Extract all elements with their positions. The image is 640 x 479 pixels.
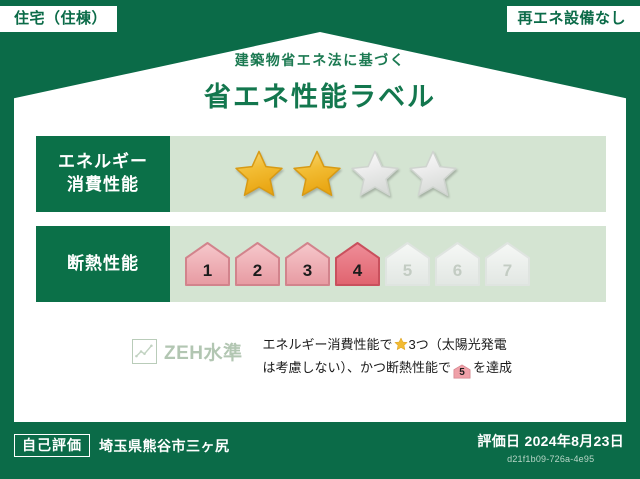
row-energy-label-line1: エネルギー <box>58 151 148 174</box>
zeh-desc-line1-after: 3つ（太陽光発電 <box>409 337 507 352</box>
zeh-note: ZEH水準 エネルギー消費性能で 3つ（太陽光発電 は考慮しない）、かつ断熱性能… <box>36 334 606 380</box>
insulation-grade-house-1: 1 <box>184 240 231 288</box>
insulation-grade-house-3: 3 <box>284 240 331 288</box>
zeh-desc-line2-before: は考慮しない）、かつ断熱性能で <box>263 360 452 375</box>
rating-rows: エネルギー 消費性能 断熱性能 1234567 <box>36 136 606 316</box>
evaluation-id: d21f1b09-726a-4e95 <box>477 454 624 464</box>
insulation-grade-house-5: 5 <box>384 240 431 288</box>
insulation-grade-number: 1 <box>203 261 212 288</box>
renewable-equipment-badge: 再エネ設備なし <box>507 6 640 32</box>
footer-right: 評価日 2024年8月23日 d21f1b09-726a-4e95 <box>477 431 624 464</box>
zeh-mark-label: ZEH水準 <box>164 338 243 365</box>
insulation-grade-number: 3 <box>303 261 312 288</box>
inline-star-icon <box>394 337 408 351</box>
inline-house-number: 5 <box>453 364 471 381</box>
insulation-grade-house-4: 4 <box>334 240 381 288</box>
insulation-grade-house-2: 2 <box>234 240 281 288</box>
insulation-grade-number: 6 <box>453 261 462 288</box>
property-address: 埼玉県熊谷市三ヶ尻 <box>99 436 230 456</box>
row-energy-label-line2: 消費性能 <box>67 174 139 197</box>
zeh-chart-icon <box>132 339 157 364</box>
star-filled-icon <box>290 148 344 200</box>
title-subtitle: 建築物省エネ法に基づく <box>0 50 640 70</box>
row-insulation-value: 1234567 <box>170 226 606 302</box>
row-energy-consumption-label: エネルギー 消費性能 <box>36 136 170 212</box>
star-filled-icon <box>232 148 286 200</box>
star-rating <box>170 148 460 200</box>
row-energy-consumption: エネルギー 消費性能 <box>36 136 606 212</box>
inline-house-icon: 5 <box>453 364 471 379</box>
star-empty-icon <box>348 148 402 200</box>
insulation-grade-number: 4 <box>353 261 362 288</box>
insulation-grade-number: 7 <box>503 261 512 288</box>
self-evaluation-badge: 自己評価 <box>14 434 90 457</box>
evaluation-date: 評価日 2024年8月23日 <box>477 431 624 451</box>
insulation-grade-number: 5 <box>403 261 412 288</box>
insulation-grade-house-6: 6 <box>434 240 481 288</box>
energy-performance-label: 住宅（住棟） 再エネ設備なし 建築物省エネ法に基づく 省エネ性能ラベル エネルギ… <box>0 0 640 479</box>
star-empty-icon <box>406 148 460 200</box>
insulation-grade-scale: 1234567 <box>170 240 531 288</box>
row-energy-consumption-value <box>170 136 606 212</box>
zeh-mark: ZEH水準 <box>132 334 243 365</box>
row-insulation-label: 断熱性能 <box>36 226 170 302</box>
insulation-grade-house-7: 7 <box>484 240 531 288</box>
zeh-description-line1: エネルギー消費性能で 3つ（太陽光発電 <box>263 334 513 357</box>
zeh-description-line2: は考慮しない）、かつ断熱性能で 5を達成 <box>263 357 513 380</box>
insulation-grade-number: 2 <box>253 261 262 288</box>
footer: 自己評価 埼玉県熊谷市三ヶ尻 評価日 2024年8月23日 d21f1b09-7… <box>0 423 640 479</box>
page-title: 省エネ性能ラベル <box>0 75 640 114</box>
zeh-desc-line1-before: エネルギー消費性能で <box>263 337 393 352</box>
building-type-badge: 住宅（住棟） <box>0 6 117 32</box>
row-insulation-label-line1: 断熱性能 <box>67 253 139 276</box>
title-block: 建築物省エネ法に基づく 省エネ性能ラベル <box>0 50 640 114</box>
footer-left: 自己評価 埼玉県熊谷市三ヶ尻 <box>14 434 230 457</box>
zeh-desc-line2-after: を達成 <box>473 360 512 375</box>
zeh-description: エネルギー消費性能で 3つ（太陽光発電 は考慮しない）、かつ断熱性能で 5を達成 <box>263 334 513 380</box>
row-insulation: 断熱性能 1234567 <box>36 226 606 302</box>
